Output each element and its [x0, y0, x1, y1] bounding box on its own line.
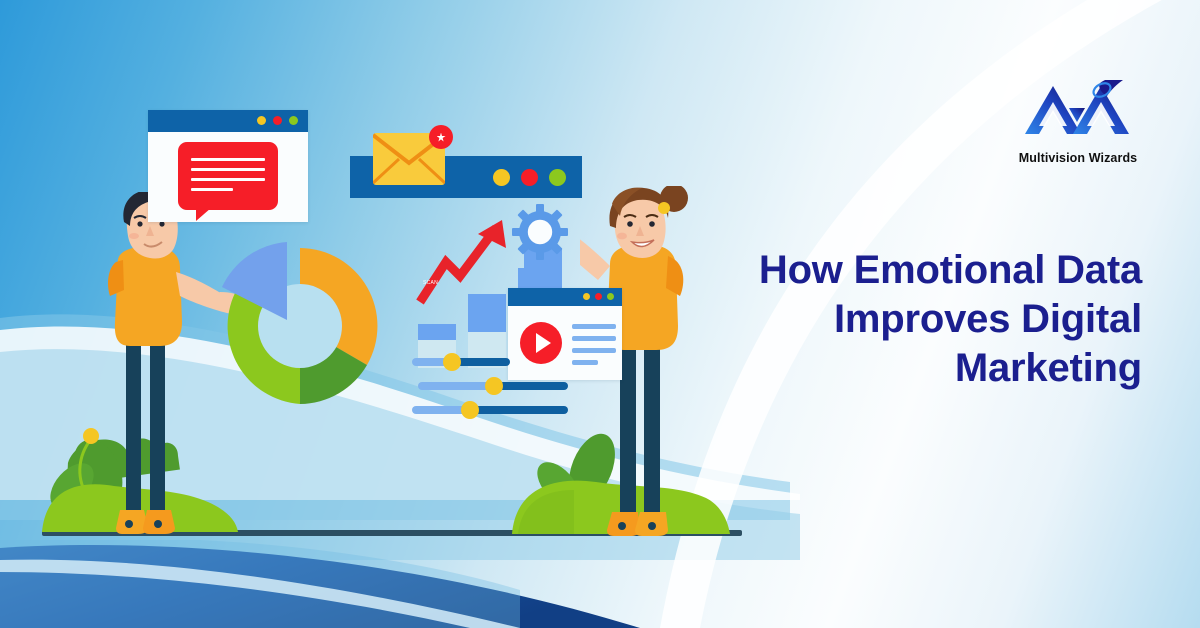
bubble-text-line [191, 188, 233, 191]
video-dot-green [607, 293, 614, 300]
title-line-2: Improves Digital [702, 295, 1142, 344]
bubble-text-line [191, 158, 265, 161]
video-card-titlebar [508, 288, 622, 306]
notification-badge-icon [429, 125, 453, 149]
slider-group [412, 358, 592, 420]
toolbar-dot-red [521, 169, 538, 186]
video-text-line [572, 348, 616, 353]
window-dot-yellow [257, 116, 266, 125]
toolbar-dot-green [549, 169, 566, 186]
marketing-banner: SCAN [0, 0, 1200, 628]
slider-3-handle[interactable] [461, 401, 479, 419]
browser-content [148, 132, 308, 222]
window-dot-green [289, 116, 298, 125]
envelope-icon [373, 133, 445, 185]
video-dot-yellow [583, 293, 590, 300]
slider-2-handle[interactable] [485, 377, 503, 395]
logo[interactable]: Multivision Wizards [998, 80, 1158, 165]
donut-chart [212, 238, 388, 414]
mountain-m-wizard-hat-icon [1023, 80, 1133, 142]
title-line-3: Marketing [702, 344, 1142, 393]
trending-up-arrow-icon [416, 218, 520, 310]
logo-name: Multivision Wizards [998, 151, 1158, 165]
speech-bubble-icon [178, 142, 278, 210]
toolbar-dot-yellow [493, 169, 510, 186]
title-line-1: How Emotional Data [702, 246, 1142, 295]
video-dot-red [595, 293, 602, 300]
page-title: How Emotional Data Improves Digital Mark… [702, 246, 1142, 392]
bar-top [418, 324, 456, 340]
window-dot-red [273, 116, 282, 125]
bubble-text-line [191, 178, 265, 181]
slider-1-handle[interactable] [443, 353, 461, 371]
gear-icon [512, 204, 568, 260]
browser-titlebar [148, 110, 308, 132]
video-text-line [572, 324, 616, 329]
browser-window-comment [148, 110, 308, 222]
bubble-text-line [191, 168, 265, 171]
bubble-tail [196, 208, 211, 221]
video-text-line [572, 336, 616, 341]
scan-label: SCAN [423, 280, 438, 286]
